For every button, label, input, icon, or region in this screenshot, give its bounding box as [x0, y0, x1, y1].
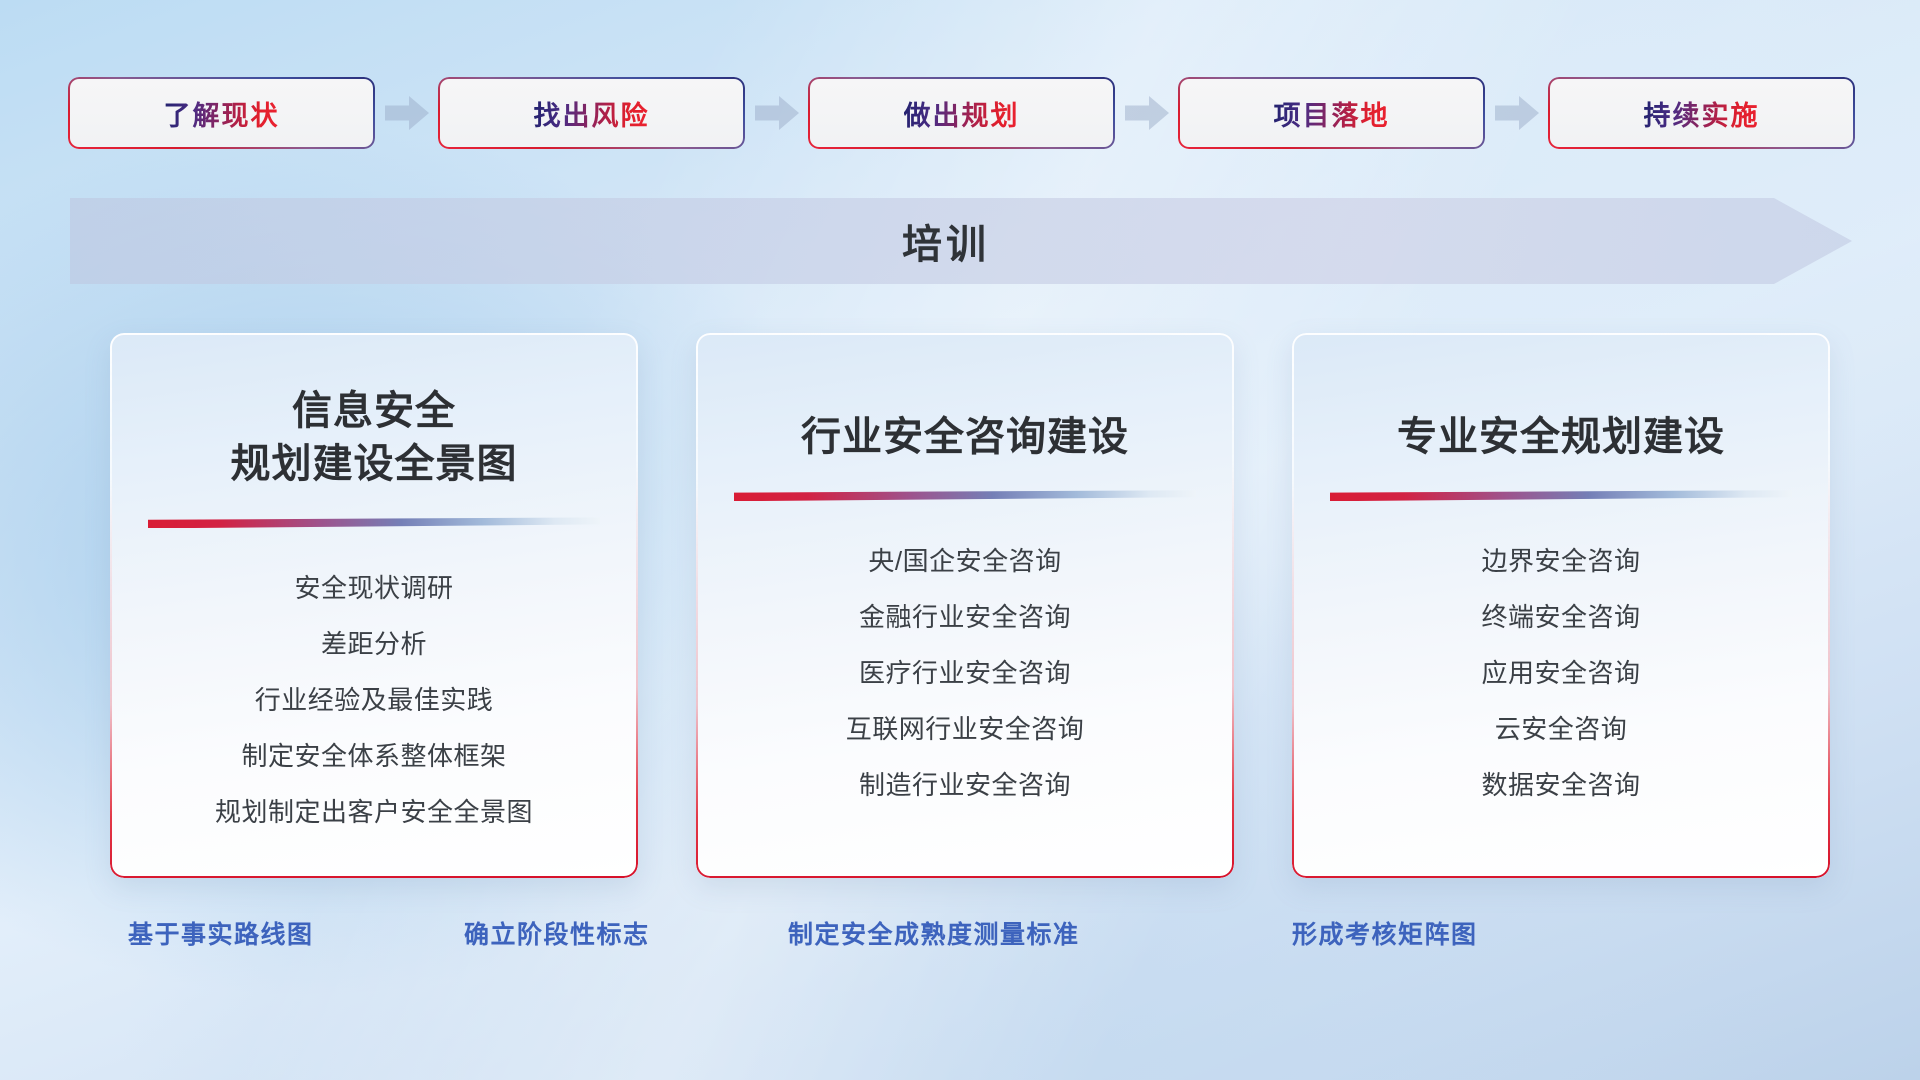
- process-step-5[interactable]: 持续实施: [1550, 79, 1853, 147]
- card-information-security-blueprint[interactable]: 信息安全 规划建设全景图 安全现状调研 差距分析 行业经验及最佳实践 制定安全体…: [110, 333, 638, 878]
- list-item: 差距分析: [144, 616, 604, 672]
- card-industry-security-consulting[interactable]: 行业安全咨询建设 央/国企安全咨询 金融行业安全咨询 医疗行业安全咨询 互联网行…: [696, 333, 1234, 878]
- process-step-label: 项目落地: [1274, 94, 1390, 133]
- card-title: 信息安全 规划建设全景图: [144, 385, 604, 491]
- list-item: 制定安全体系整体框架: [144, 728, 604, 784]
- footnote-milestones: 确立阶段性标志: [464, 915, 650, 951]
- footnote-roadmap: 基于事实路线图: [128, 915, 314, 951]
- list-item: 数据安全咨询: [1326, 757, 1796, 813]
- process-step-label: 持续实施: [1644, 94, 1760, 133]
- card-divider-rule: [1330, 490, 1792, 501]
- list-item: 规划制定出客户安全全景图: [144, 784, 604, 840]
- list-item: 行业经验及最佳实践: [144, 672, 604, 728]
- process-step-row: 了解现状 找出风险 做出规划 项目落地: [70, 79, 1852, 147]
- card-item-list: 安全现状调研 差距分析 行业经验及最佳实践 制定安全体系整体框架 规划制定出客户…: [144, 560, 604, 840]
- list-item: 医疗行业安全咨询: [730, 645, 1200, 701]
- list-item: 互联网行业安全咨询: [730, 701, 1200, 757]
- card-divider-rule: [734, 490, 1196, 501]
- card-row: 信息安全 规划建设全景图 安全现状调研 差距分析 行业经验及最佳实践 制定安全体…: [110, 333, 1810, 878]
- process-step-1[interactable]: 了解现状: [70, 79, 373, 147]
- card-professional-security-planning[interactable]: 专业安全规划建设 边界安全咨询 终端安全咨询 应用安全咨询 云安全咨询 数据安全…: [1292, 333, 1830, 878]
- process-step-label: 找出风险: [534, 94, 650, 133]
- process-step-4[interactable]: 项目落地: [1180, 79, 1483, 147]
- process-step-3[interactable]: 做出规划: [810, 79, 1113, 147]
- process-step-2[interactable]: 找出风险: [440, 79, 743, 147]
- process-step-label: 了解现状: [164, 94, 280, 133]
- step-arrow-icon-4: [1483, 79, 1550, 147]
- card-item-list: 央/国企安全咨询 金融行业安全咨询 医疗行业安全咨询 互联网行业安全咨询 制造行…: [730, 533, 1200, 813]
- banner-title: 培训: [70, 198, 1852, 284]
- list-item: 云安全咨询: [1326, 701, 1796, 757]
- card-item-list: 边界安全咨询 终端安全咨询 应用安全咨询 云安全咨询 数据安全咨询: [1326, 533, 1796, 813]
- step-arrow-icon-2: [743, 79, 810, 147]
- process-step-label: 做出规划: [904, 94, 1020, 133]
- footnote-row: 基于事实路线图 确立阶段性标志 制定安全成熟度测量标准 形成考核矩阵图: [0, 915, 1920, 959]
- card-title: 行业安全咨询建设: [730, 385, 1200, 464]
- list-item: 金融行业安全咨询: [730, 589, 1200, 645]
- list-item: 终端安全咨询: [1326, 589, 1796, 645]
- list-item: 制造行业安全咨询: [730, 757, 1200, 813]
- step-arrow-icon-1: [373, 79, 440, 147]
- slide-stage: 了解现状 找出风险 做出规划 项目落地: [0, 0, 1920, 1080]
- card-divider-rule: [148, 517, 600, 528]
- list-item: 央/国企安全咨询: [730, 533, 1200, 589]
- list-item: 边界安全咨询: [1326, 533, 1796, 589]
- list-item: 安全现状调研: [144, 560, 604, 616]
- card-title: 专业安全规划建设: [1326, 385, 1796, 464]
- list-item: 应用安全咨询: [1326, 645, 1796, 701]
- step-arrow-icon-3: [1113, 79, 1180, 147]
- footnote-maturity-standard: 制定安全成熟度测量标准: [788, 915, 1080, 951]
- training-banner: 培训: [70, 198, 1852, 284]
- footnote-assessment-matrix: 形成考核矩阵图: [1292, 915, 1478, 951]
